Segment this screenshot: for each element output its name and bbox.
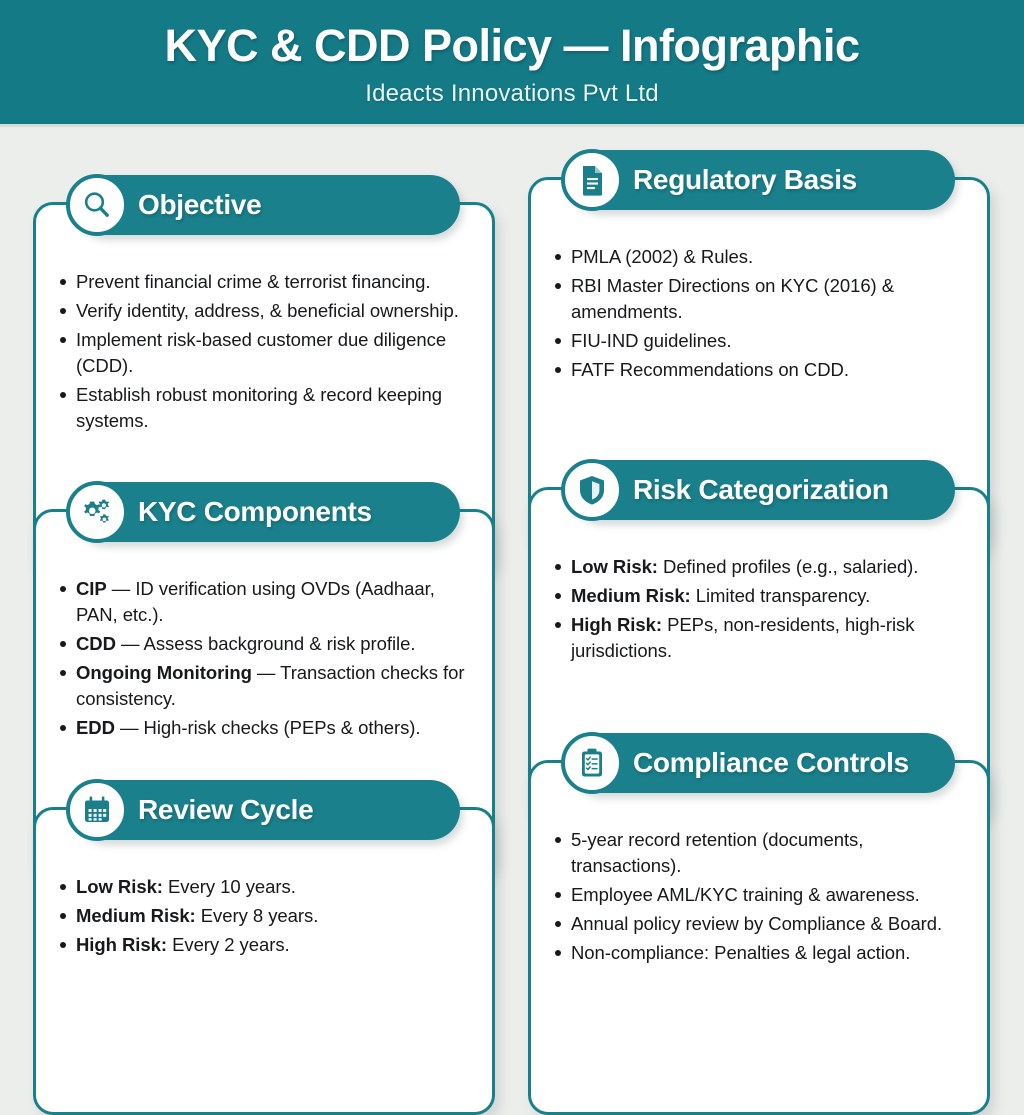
page-title: KYC & CDD Policy — Infographic — [164, 22, 859, 69]
list-item: CIP — ID verification using OVDs (Aadhaa… — [54, 576, 476, 628]
card-header-review-cycle: Review Cycle — [74, 780, 460, 840]
list-item: High Risk: PEPs, non-residents, high-ris… — [549, 612, 971, 664]
bullet-list: PMLA (2002) & Rules. RBI Master Directio… — [549, 244, 971, 383]
card-body-compliance-controls: 5-year record retention (documents, tran… — [531, 819, 987, 979]
card-review-cycle[interactable]: Review Cycle Low Risk: Every 10 years. M… — [33, 807, 495, 1115]
card-compliance-controls[interactable]: Compliance Controls 5-year record retent… — [528, 760, 990, 1115]
list-item: Implement risk-based customer due dilige… — [54, 327, 476, 379]
infographic-board: Objective Prevent financial crime & terr… — [0, 127, 1024, 1024]
card-title: Compliance Controls — [633, 747, 927, 779]
magnifier-icon — [66, 174, 128, 236]
list-item: FATF Recommendations on CDD. — [549, 357, 971, 383]
calendar-icon — [66, 779, 128, 841]
list-item: High Risk: Every 2 years. — [54, 932, 476, 958]
card-header-risk-categorization: Risk Categorization — [569, 460, 955, 520]
list-item: Prevent financial crime & terrorist fina… — [54, 269, 476, 295]
card-body-risk-categorization: Low Risk: Defined profiles (e.g., salari… — [531, 546, 987, 677]
page-subtitle: Ideacts Innovations Pvt Ltd — [365, 80, 659, 108]
card-title: Objective — [138, 189, 279, 221]
card-title: Review Cycle — [138, 794, 331, 826]
clipboard-check-icon — [561, 732, 623, 794]
list-item: FIU-IND guidelines. — [549, 328, 971, 354]
page-header: KYC & CDD Policy — Infographic Ideacts I… — [0, 0, 1024, 124]
card-body-review-cycle: Low Risk: Every 10 years. Medium Risk: E… — [36, 866, 492, 971]
list-item: Verify identity, address, & beneficial o… — [54, 298, 476, 324]
list-item: CDD — Assess background & risk profile. — [54, 631, 476, 657]
bullet-list: 5-year record retention (documents, tran… — [549, 827, 971, 966]
list-item: EDD — High-risk checks (PEPs & others). — [54, 715, 476, 741]
list-item: Ongoing Monitoring — Transaction checks … — [54, 660, 476, 712]
card-header-kyc-components: KYC Components — [74, 482, 460, 542]
list-item: Low Risk: Every 10 years. — [54, 874, 476, 900]
card-header-regulatory-basis: Regulatory Basis — [569, 150, 955, 210]
list-item: Medium Risk: Every 8 years. — [54, 903, 476, 929]
card-body-regulatory-basis: PMLA (2002) & Rules. RBI Master Directio… — [531, 236, 987, 396]
card-header-objective: Objective — [74, 175, 460, 235]
list-item: PMLA (2002) & Rules. — [549, 244, 971, 270]
card-header-compliance-controls: Compliance Controls — [569, 733, 955, 793]
bullet-list: Low Risk: Defined profiles (e.g., salari… — [549, 554, 971, 664]
list-item: Annual policy review by Compliance & Boa… — [549, 911, 971, 937]
list-item: Employee AML/KYC training & awareness. — [549, 882, 971, 908]
list-item: Medium Risk: Limited transparency. — [549, 583, 971, 609]
shield-icon — [561, 459, 623, 521]
list-item: RBI Master Directions on KYC (2016) & am… — [549, 273, 971, 325]
list-item: Non-compliance: Penalties & legal action… — [549, 940, 971, 966]
list-item: 5-year record retention (documents, tran… — [549, 827, 971, 879]
card-title: KYC Components — [138, 496, 390, 528]
gears-icon — [66, 481, 128, 543]
bullet-list: CIP — ID verification using OVDs (Aadhaa… — [54, 576, 476, 741]
list-item: Low Risk: Defined profiles (e.g., salari… — [549, 554, 971, 580]
document-icon — [561, 149, 623, 211]
bullet-list: Low Risk: Every 10 years. Medium Risk: E… — [54, 874, 476, 958]
card-body-kyc-components: CIP — ID verification using OVDs (Aadhaa… — [36, 568, 492, 754]
card-body-objective: Prevent financial crime & terrorist fina… — [36, 261, 492, 447]
bullet-list: Prevent financial crime & terrorist fina… — [54, 269, 476, 434]
card-title: Regulatory Basis — [633, 164, 875, 196]
card-title: Risk Categorization — [633, 474, 907, 506]
list-item: Establish robust monitoring & record kee… — [54, 382, 476, 434]
